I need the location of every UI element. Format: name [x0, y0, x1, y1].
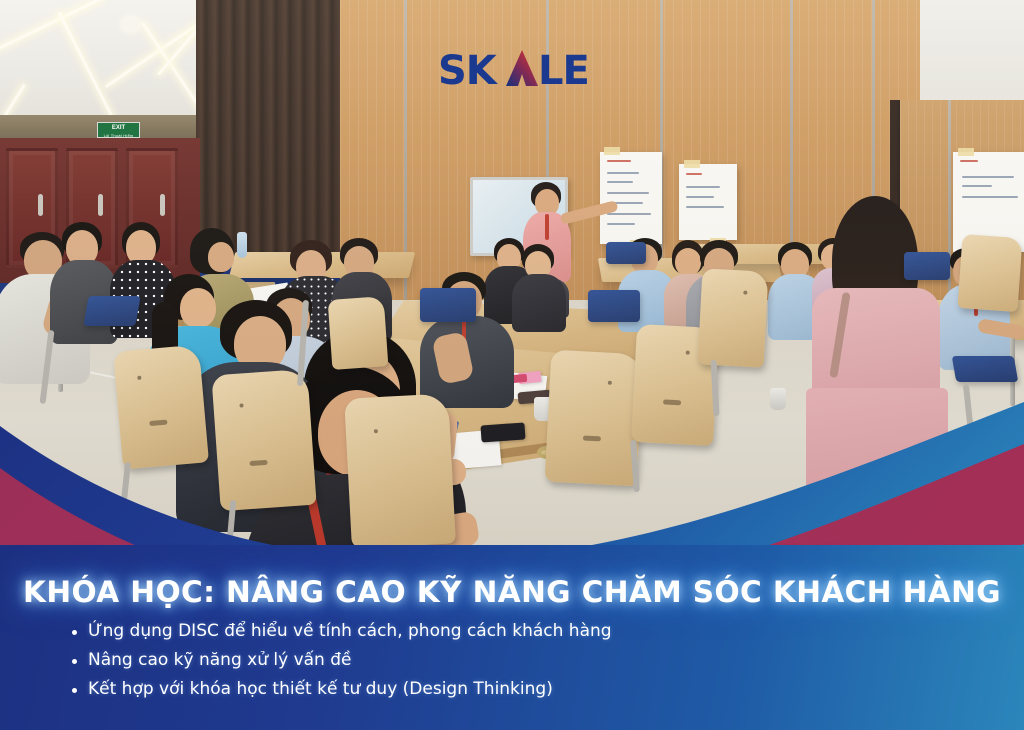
head — [180, 288, 216, 328]
bullet-dot-icon — [72, 659, 77, 664]
flipchart-writing — [962, 196, 1018, 198]
course-promo-poster: EXIT Lối Thoát Hiểm — [0, 0, 1024, 730]
flipchart-writing — [960, 160, 978, 162]
head — [208, 242, 234, 272]
flipchart-writing — [607, 213, 651, 215]
ceiling-light-fixture — [123, 18, 139, 31]
benefit-text: Kết hợp với khóa học thiết kế tư duy (De… — [88, 678, 553, 700]
door-handle — [38, 194, 43, 216]
lanyard — [545, 214, 549, 240]
chair-seat-blue — [588, 290, 640, 322]
flipchart-writing — [686, 186, 720, 188]
flipchart-writing — [962, 185, 992, 187]
course-benefits-list: Ứng dụng DISC để hiểu về tính cách, phon… — [72, 620, 932, 707]
flipchart-writing — [607, 160, 631, 162]
head — [675, 248, 701, 276]
flipchart-sheet — [679, 164, 737, 240]
dark-wall-panel — [196, 0, 354, 262]
flipchart-writing — [962, 176, 1014, 178]
skale-logo-mark: SK LE — [438, 46, 588, 94]
flipchart-writing — [686, 196, 714, 198]
bullet-dot-icon — [72, 688, 77, 693]
exit-sign-label: EXIT — [112, 125, 125, 131]
bullet-dot-icon — [72, 630, 77, 635]
flipchart-writing — [607, 192, 649, 194]
door-handle — [160, 194, 165, 216]
flipchart-sheet — [600, 152, 662, 244]
torso — [512, 274, 566, 332]
tape-strip — [684, 160, 700, 168]
chair-back — [957, 234, 1022, 312]
tape-strip — [604, 147, 620, 155]
chair-seat-blue — [83, 296, 140, 326]
benefit-text: Ứng dụng DISC để hiểu về tính cách, phon… — [88, 620, 612, 642]
door-handle — [98, 194, 103, 216]
list-item: Nâng cao kỹ năng xử lý vấn đề — [72, 649, 932, 671]
water-bottle — [237, 232, 247, 258]
list-item: Ứng dụng DISC để hiểu về tính cách, phon… — [72, 620, 932, 642]
flipchart-writing — [607, 181, 633, 183]
chair-seat-blue — [904, 252, 950, 280]
exit-sign-sub: Lối Thoát Hiểm — [98, 132, 139, 140]
skale-logo: SK LE — [438, 46, 588, 94]
chair-seat-blue — [606, 242, 646, 264]
course-title: KHÓA HỌC: NÂNG CAO KỸ NĂNG CHĂM SÓC KHÁC… — [0, 575, 1024, 609]
svg-text:SK: SK — [438, 48, 499, 94]
list-item: Kết hợp với khóa học thiết kế tư duy (De… — [72, 678, 932, 700]
chair-seat-blue — [420, 288, 476, 322]
course-text-block: KHÓA HỌC: NÂNG CAO KỸ NĂNG CHĂM SÓC KHÁC… — [0, 575, 1024, 730]
benefit-text: Nâng cao kỹ năng xử lý vấn đề — [88, 649, 351, 671]
flipchart-writing — [686, 173, 702, 175]
flipchart-writing — [686, 206, 724, 208]
flipchart-writing — [607, 172, 639, 174]
exit-sign: EXIT Lối Thoát Hiểm — [97, 122, 140, 138]
chair-screw — [743, 291, 747, 295]
flipchart-writing — [607, 223, 635, 225]
svg-text:LE: LE — [538, 48, 588, 94]
tape-strip — [958, 148, 974, 156]
